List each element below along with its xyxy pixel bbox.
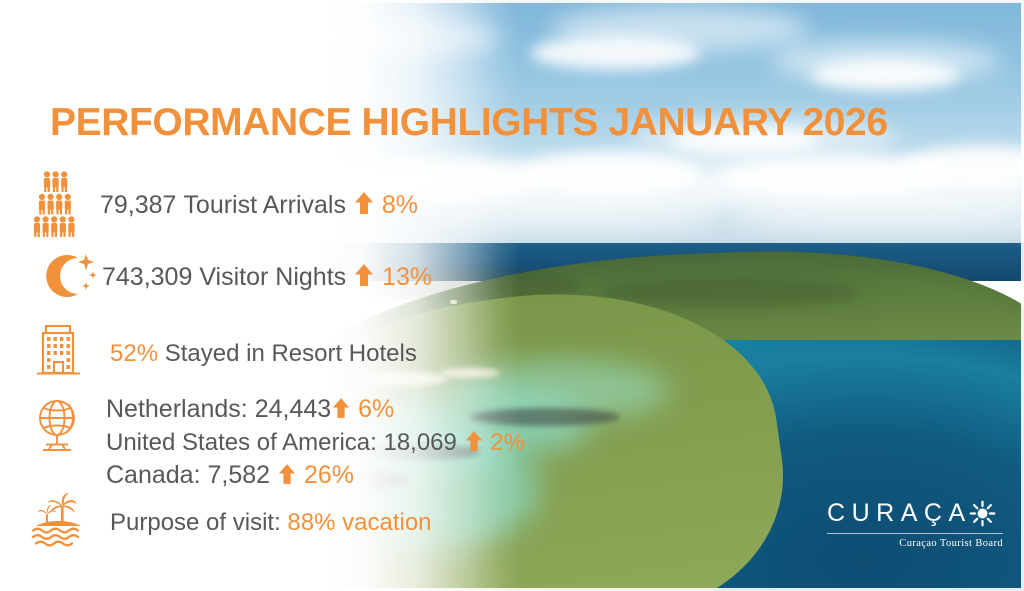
arrow-up-icon [465, 429, 483, 460]
country-label: Canada: [106, 461, 201, 489]
arrow-up-icon [354, 191, 374, 222]
logo-letter-ccedilla: Ç [924, 501, 949, 526]
infographic-canvas: PERFORMANCE HIGHLIGHTS JANUARY 2026 [0, 0, 1024, 591]
logo-letter-r: R [876, 501, 901, 526]
hotel-building-icon [32, 322, 86, 385]
country-value: 18,069 [383, 429, 456, 456]
stat-change: 8% [382, 191, 418, 219]
stat-value: 79,387 [100, 191, 176, 219]
stat-line-purpose-of-visit: Purpose of visit: 88% vacation [110, 509, 432, 537]
stat-change: 13% [382, 263, 432, 291]
country-label: United States of America: [106, 429, 377, 456]
country-change: 6% [358, 395, 394, 423]
crescent-moon-icon [44, 250, 100, 307]
logo-tagline: Curaçao Tourist Board [827, 538, 1003, 549]
sun-icon [969, 500, 996, 527]
source-market-lines: Netherlands: 24,443 6% United States of … [106, 394, 525, 493]
arrow-up-icon [354, 263, 374, 294]
country-value: 7,582 [207, 461, 270, 489]
people-pyramid-icon [24, 171, 86, 242]
logo-wordmark: C U R A Ç A [827, 500, 1003, 527]
stat-row-purpose-of-visit: Purpose of visit: 88% vacation [28, 492, 432, 553]
palm-island-icon [28, 492, 90, 553]
stat-row-tourist-arrivals: 79,387 Tourist Arrivals 8% [24, 171, 418, 242]
stat-line-tourist-arrivals: 79,387 Tourist Arrivals 8% [100, 191, 418, 222]
country-change: 2% [490, 429, 525, 456]
stat-row-source-markets: Netherlands: 24,443 6% United States of … [30, 394, 525, 493]
stat-value: 52% [110, 340, 158, 367]
logo-letter-a: A [901, 501, 924, 526]
country-label: Netherlands: [106, 395, 248, 423]
arrow-up-icon [278, 462, 296, 493]
arrow-up-icon [332, 396, 350, 427]
stat-row-visitor-nights: 743,309 Visitor Nights 13% [44, 250, 432, 307]
purpose-label: Purpose of visit: [110, 509, 281, 536]
logo-letter-u: U [852, 501, 877, 526]
logo-divider [827, 533, 1003, 534]
stat-label: Tourist Arrivals [183, 191, 346, 219]
stat-value: 743,309 [102, 263, 192, 291]
page-title: PERFORMANCE HIGHLIGHTS JANUARY 2026 [50, 101, 888, 145]
curacao-tourist-board-logo: C U R A Ç A [827, 500, 1003, 549]
country-value: 24,443 [255, 395, 331, 423]
stat-label: Stayed in Resort Hotels [165, 340, 417, 367]
stat-label: Visitor Nights [199, 263, 346, 291]
source-market-row-netherlands: Netherlands: 24,443 6% [106, 394, 525, 427]
purpose-value: 88% vacation [287, 509, 431, 536]
globe-icon [30, 394, 86, 461]
stat-line-visitor-nights: 743,309 Visitor Nights 13% [102, 263, 432, 294]
source-market-row-canada: Canada: 7,582 26% [106, 460, 525, 493]
source-market-row-united-states: United States of America: 18,069 2% [106, 427, 525, 460]
stat-row-resort-hotels: 52% Stayed in Resort Hotels [32, 322, 417, 385]
country-change: 26% [304, 461, 354, 489]
stat-line-resort-hotels: 52% Stayed in Resort Hotels [110, 340, 417, 368]
logo-letter-c: C [827, 501, 852, 526]
